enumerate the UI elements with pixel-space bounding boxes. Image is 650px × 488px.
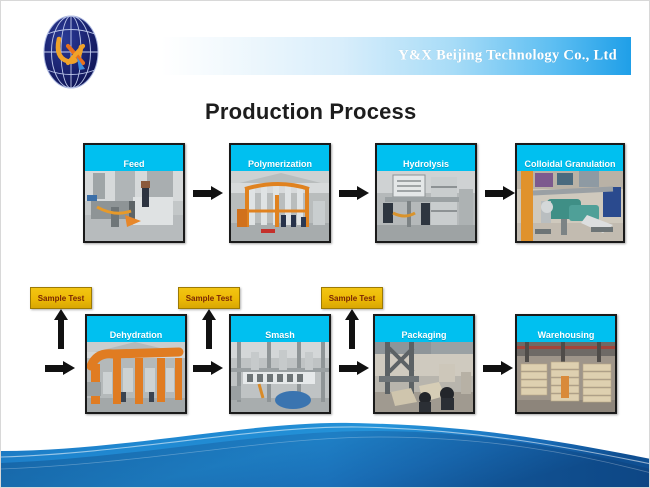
process-step-polymerization[interactable]: Polymerization [229,143,331,243]
process-step-label: Dehydration [87,316,185,342]
flow-arrow-up [345,309,359,349]
process-step-dehydration[interactable]: Dehydration [85,314,187,414]
flow-arrow-right [45,361,75,375]
process-step-label: Colloidal Granulation [517,145,623,171]
flow-arrow-right [339,186,369,200]
process-step-hydrolysis[interactable]: Hydrolysis [375,143,477,243]
sample-test-label: Sample Test [329,294,376,303]
flow-arrow-right [339,361,369,375]
process-step-packaging[interactable]: Packaging [373,314,475,414]
process-step-warehousing[interactable]: Warehousing [515,314,617,414]
slide-canvas: Y&X Beijing Technology Co., Ltd Producti… [0,0,650,488]
company-name: Y&X Beijing Technology Co., Ltd [398,48,617,65]
process-step-label: Warehousing [517,316,615,342]
sample-test-label: Sample Test [186,294,233,303]
flow-arrow-up [202,309,216,349]
sample-test-tag-2[interactable]: Sample Test [178,287,240,309]
packaging-photo [375,342,473,412]
process-step-label: Smash [231,316,329,342]
bottom-wave-decoration [1,407,650,487]
process-step-label: Feed [85,145,183,171]
page-title: Production Process [205,99,416,125]
flow-arrow-right [193,186,223,200]
process-step-colloidal-granulation[interactable]: Colloidal Granulation [515,143,625,243]
polymerization-photo [231,171,329,241]
flow-arrow-right [485,186,515,200]
colloidal-granulation-photo [517,171,623,241]
flow-arrow-up [54,309,68,349]
sample-test-tag-1[interactable]: Sample Test [30,287,92,309]
process-step-feed[interactable]: Feed [83,143,185,243]
sample-test-tag-3[interactable]: Sample Test [321,287,383,309]
process-step-label: Hydrolysis [377,145,475,171]
globe-logo-icon [37,13,105,91]
process-step-label: Polymerization [231,145,329,171]
header-banner: Y&X Beijing Technology Co., Ltd [161,37,631,75]
dehydration-photo [87,342,185,412]
feed-photo [85,171,183,241]
sample-test-label: Sample Test [38,294,85,303]
hydrolysis-photo [377,171,475,241]
process-step-label: Packaging [375,316,473,342]
flow-arrow-right [193,361,223,375]
warehousing-photo [517,342,615,412]
smash-photo [231,342,329,412]
process-step-smash[interactable]: Smash [229,314,331,414]
flow-arrow-right [483,361,513,375]
